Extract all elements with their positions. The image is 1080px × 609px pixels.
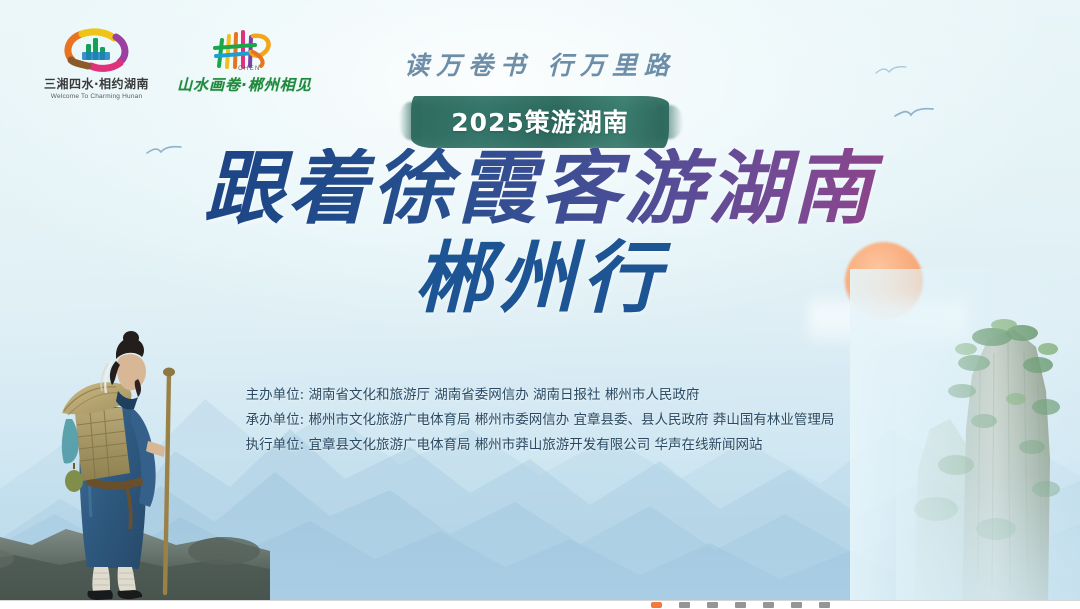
logo-chen-sub-text: CHEN: [238, 66, 261, 72]
poster-title-main: 跟着徐霞客游湖南: [0, 148, 1080, 228]
app-icon-6[interactable]: [819, 602, 830, 608]
app-icon-2[interactable]: [707, 602, 718, 608]
poster-title-sub: 郴州行: [0, 240, 1080, 318]
logo-chenzhou: CHEN 山水画卷·郴州相见: [177, 26, 312, 95]
bottom-toolbar[interactable]: [0, 600, 1080, 609]
poster-canvas: 三湘四水·相约湖南 Welcome To Charming Hunan: [0, 0, 1080, 609]
credit-line-host: 承办单位: 郴州市文化旅游广电体育局 郴州市委网信办 宜章县委、县人民政府 莽山…: [246, 408, 835, 433]
hunan-swirl-logo-icon: [58, 26, 136, 72]
app-icon-orange[interactable]: [651, 602, 662, 608]
credit-line-organizer: 主办单位: 湖南省文化和旅游厅 湖南省委网信办 湖南日报社 郴州市人民政府: [246, 383, 835, 408]
app-icon-5[interactable]: [791, 602, 802, 608]
logo-chen-cn-text: 山水画卷·郴州相见: [177, 74, 312, 95]
logo-hunan-en-text: Welcome To Charming Hunan: [51, 93, 142, 100]
credit-line-executor: 执行单位: 宜章县文化旅游广电体育局 郴州市莽山旅游开发有限公司 华声在线新闻网…: [246, 433, 835, 458]
logo-group: 三湘四水·相约湖南 Welcome To Charming Hunan: [44, 26, 312, 100]
app-icon-1[interactable]: [679, 602, 690, 608]
logo-hunan-cn-text: 三湘四水·相约湖南: [44, 75, 149, 92]
app-icon-3[interactable]: [735, 602, 746, 608]
karst-rock-pillar: [896, 279, 1080, 609]
app-icon-4[interactable]: [763, 602, 774, 608]
credits-block: 主办单位: 湖南省文化和旅游厅 湖南省委网信办 湖南日报社 郴州市人民政府 承办…: [246, 383, 835, 458]
xu-xiake-traveler-figure: [38, 321, 213, 601]
logo-hunan: 三湘四水·相约湖南 Welcome To Charming Hunan: [44, 26, 149, 100]
